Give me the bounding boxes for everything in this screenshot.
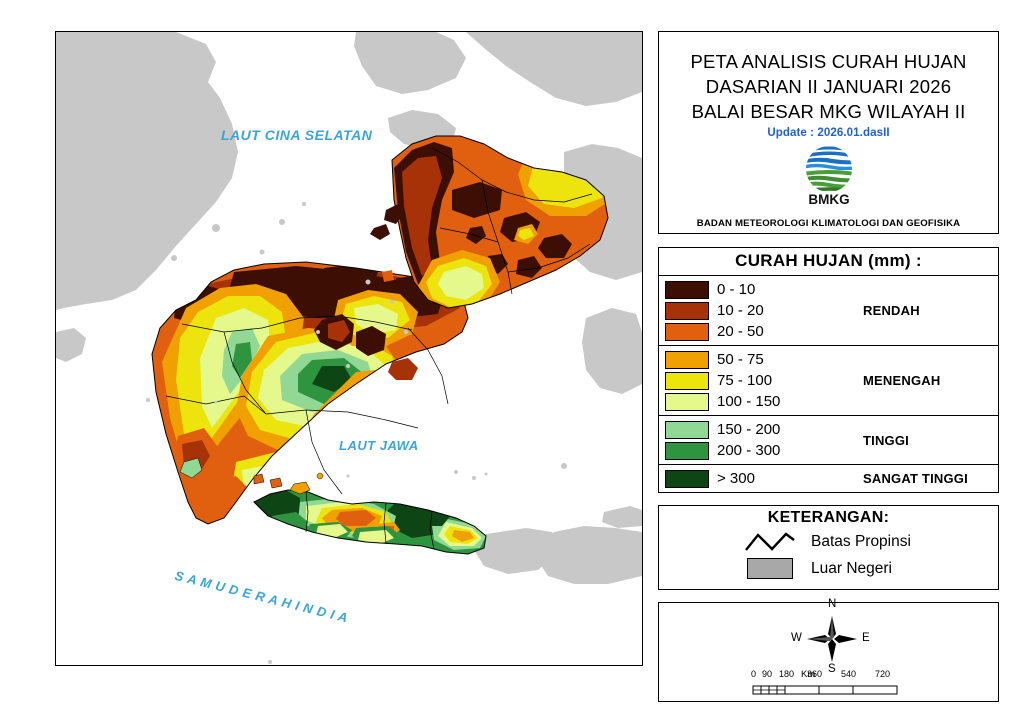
scale-tick: 0	[751, 669, 756, 679]
legend-title: CURAH HUJAN (mm) :	[659, 248, 998, 276]
rainfall-map: LAUT CINA SELATAN LAUT JAWA S A M U D E …	[56, 32, 642, 665]
legend-swatch	[665, 302, 709, 320]
keterangan-label: Luar Negeri	[811, 560, 892, 578]
compass-rose: N S W E	[793, 608, 871, 670]
legend-swatch	[665, 421, 709, 439]
legend-swatch	[665, 442, 709, 460]
bmkg-logo-text: BMKG	[808, 192, 849, 207]
bmkg-logo: BMKG	[797, 145, 861, 207]
legend-row: 10 - 20	[665, 300, 861, 321]
legend-row: > 300	[665, 468, 861, 489]
compass-scale-box: N S W E 0 90 180 360 540 720	[658, 602, 999, 702]
keterangan-legend: KETERANGAN: Batas Propinsi Luar Negeri	[658, 505, 999, 590]
bmkg-logo-icon: BMKG	[797, 145, 861, 207]
legend-range: 20 - 50	[717, 324, 764, 339]
compass-east: E	[862, 632, 870, 644]
legend-group-sangat-tinggi: > 300 SANGAT TINGGI	[659, 465, 998, 492]
legend-row: 0 - 10	[665, 279, 861, 300]
keterangan-title: KETERANGAN:	[659, 509, 998, 527]
map-canvas[interactable]: LAUT CINA SELATAN LAUT JAWA S A M U D E …	[55, 31, 643, 666]
title-line-1: PETA ANALISIS CURAH HUJAN	[659, 49, 998, 74]
scale-tick: 540	[841, 669, 856, 679]
legend-category-label: MENENGAH	[861, 373, 998, 388]
foreign-land-icon	[741, 558, 799, 579]
title-line-2: DASARIAN II JANUARI 2026	[659, 74, 998, 99]
province-boundary-icon	[741, 532, 799, 552]
legend-swatch	[665, 372, 709, 390]
compass-west: W	[791, 632, 802, 644]
legend-group-menengah: 50 - 75 75 - 100 100 - 150 MENENGAH	[659, 346, 998, 416]
legend-category-label: SANGAT TINGGI	[861, 471, 998, 486]
scale-tick: 90	[762, 669, 772, 679]
legend-row: 20 - 50	[665, 321, 861, 342]
scale-bar-graphic	[751, 683, 901, 694]
compass-north: N	[828, 598, 836, 610]
scale-tick: 720	[875, 669, 890, 679]
legend-range: 50 - 75	[717, 352, 764, 367]
legend-swatch	[665, 351, 709, 369]
legend-range: 150 - 200	[717, 422, 780, 437]
update-stamp: Update : 2026.01.dasII	[659, 127, 998, 139]
legend-swatch	[665, 281, 709, 299]
agency-name: BADAN METEOROLOGI KLIMATOLOGI DAN GEOFIS…	[659, 218, 998, 229]
scale-unit: Km	[801, 669, 815, 680]
legend-swatch	[665, 393, 709, 411]
compass-rose-icon	[793, 608, 871, 670]
sea-label-laut-cina-selatan: LAUT CINA SELATAN	[221, 127, 373, 143]
sea-label-laut-jawa: LAUT JAWA	[339, 438, 419, 453]
title-line-3: BALAI BESAR MKG WILAYAH II	[659, 99, 998, 124]
legend-group-tinggi: 150 - 200 200 - 300 TINGGI	[659, 416, 998, 465]
scale-tick-labels: 0 90 180 360 540 720	[751, 669, 901, 682]
legend-range: 200 - 300	[717, 443, 780, 458]
legend-range: > 300	[717, 471, 755, 486]
legend-row: 50 - 75	[665, 349, 861, 370]
keterangan-item-batas-propinsi: Batas Propinsi	[659, 528, 998, 555]
legend-row: 100 - 150	[665, 391, 861, 412]
legend-category-label: RENDAH	[861, 303, 998, 318]
legend-group-rendah: 0 - 10 10 - 20 20 - 50 RENDAH	[659, 276, 998, 346]
map-info-column: PETA ANALISIS CURAH HUJAN DASARIAN II JA…	[658, 31, 999, 702]
title-box: PETA ANALISIS CURAH HUJAN DASARIAN II JA…	[658, 31, 999, 234]
legend-row: 150 - 200	[665, 419, 861, 440]
legend-swatch	[665, 470, 709, 488]
keterangan-item-luar-negeri: Luar Negeri	[659, 555, 998, 582]
legend-row: 75 - 100	[665, 370, 861, 391]
legend-category-label: TINGGI	[861, 433, 998, 448]
legend-range: 10 - 20	[717, 303, 764, 318]
legend-row: 200 - 300	[665, 440, 861, 461]
keterangan-label: Batas Propinsi	[811, 533, 911, 551]
legend-swatch	[665, 323, 709, 341]
legend-range: 0 - 10	[717, 282, 755, 297]
legend-range: 75 - 100	[717, 373, 772, 388]
rainfall-legend: CURAH HUJAN (mm) : 0 - 10 10 - 20 20 - 5…	[658, 247, 999, 493]
scale-bar: 0 90 180 360 540 720	[751, 669, 901, 694]
legend-range: 100 - 150	[717, 394, 780, 409]
scale-tick: 180	[779, 669, 794, 679]
